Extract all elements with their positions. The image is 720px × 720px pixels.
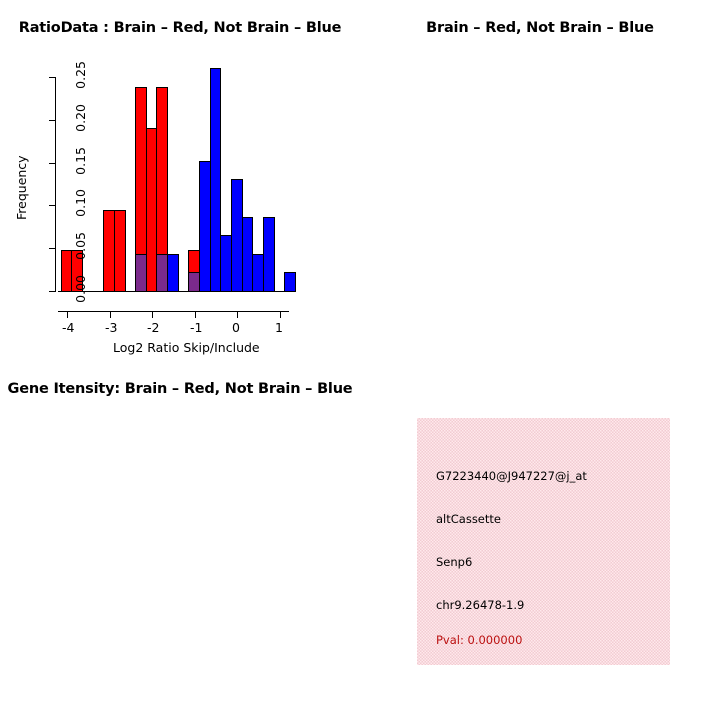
ratio-x-tick	[110, 311, 111, 318]
ratio-x-tick-label: -4	[62, 320, 74, 335]
gene-histogram-plot-area: 0.000.050.100.150.2040608010012014016018…	[0, 360, 360, 720]
ratio-x-tick-label: -3	[105, 320, 117, 335]
ratio-x-tick	[67, 311, 68, 318]
ratio-y-axis-line	[55, 77, 56, 292]
bar-not-brain-blue	[284, 272, 296, 292]
info-event-type: altCassette	[436, 512, 501, 526]
ratio-y-tick-label: 0.05	[73, 232, 88, 260]
panel-scatter: Brain – Red, Not Brain – Blue skip inten…	[360, 0, 720, 360]
ratio-x-tick	[280, 311, 281, 318]
ratio-histogram-plot-area: 0.000.050.100.150.200.25-4-3-2-101	[0, 0, 360, 360]
ratio-y-tick	[49, 291, 56, 292]
info-pvalue: Pval: 0.000000	[436, 633, 522, 647]
bar-brain-red	[114, 210, 126, 292]
panel-gene-histogram: Gene Itensity: Brain – Red, Not Brain – …	[0, 360, 360, 720]
ratio-x-axis-line	[58, 311, 288, 312]
ratio-y-tick-label: 0.00	[73, 275, 88, 303]
bar-not-brain-blue	[167, 254, 179, 292]
ratio-x-tick-label: -1	[190, 320, 202, 335]
info-locus: chr9.26478-1.9	[436, 598, 524, 612]
ratio-x-tick	[195, 311, 196, 318]
info-probe-id: G7223440@J947227@j_at	[436, 469, 587, 483]
ratio-x-tick-label: -2	[147, 320, 159, 335]
ratio-y-tick-label: 0.15	[73, 147, 88, 175]
bar-not-brain-blue	[263, 217, 275, 292]
ratio-y-tick	[49, 248, 56, 249]
ratio-y-tick	[49, 120, 56, 121]
ratio-x-tick	[152, 311, 153, 318]
ratio-baseline	[58, 291, 288, 292]
scatter-plot-area: 5010015050100150200250300	[360, 0, 720, 360]
ratio-y-tick-label: 0.10	[73, 189, 88, 217]
ratio-y-tick-label: 0.25	[73, 61, 88, 89]
ratio-x-tick	[237, 311, 238, 318]
info-gene-name: Senp6	[436, 555, 472, 569]
ratio-y-tick	[49, 163, 56, 164]
ratio-y-tick	[49, 205, 56, 206]
panel-ratio-histogram: RatioData : Brain – Red, Not Brain – Blu…	[0, 0, 360, 360]
figure-canvas: RatioData : Brain – Red, Not Brain – Blu…	[0, 0, 720, 720]
ratio-x-tick-label: 1	[275, 320, 283, 335]
ratio-y-tick-label: 0.20	[73, 104, 88, 132]
ratio-y-tick	[49, 77, 56, 78]
ratio-x-tick-label: 0	[232, 320, 240, 335]
gene-info-panel: G7223440@J947227@j_at altCassette Senp6 …	[417, 418, 670, 665]
